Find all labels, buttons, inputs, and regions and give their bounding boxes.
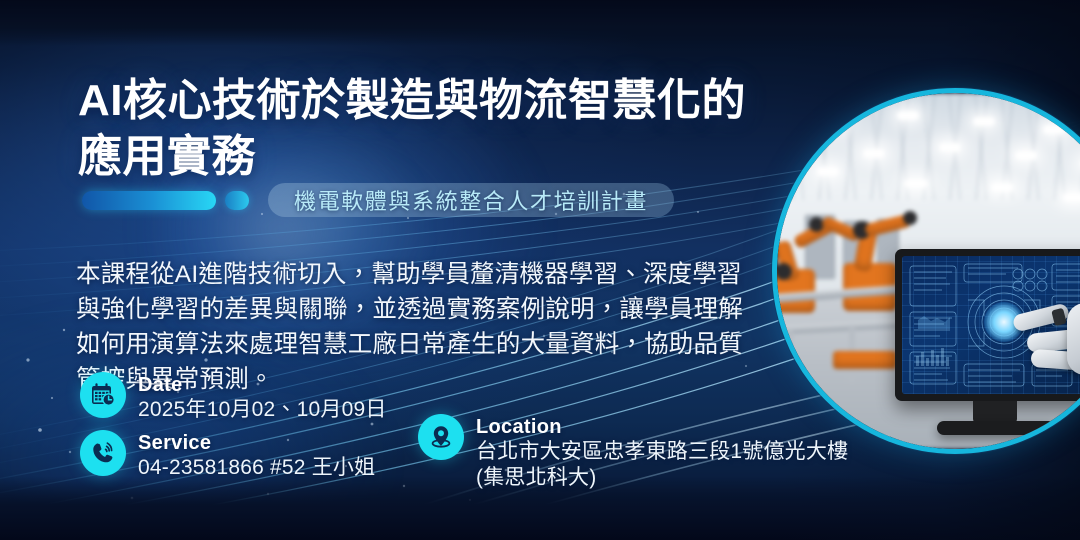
info-block-location: Location 台北市大安區忠孝東路三段1號億光大樓 (集思北科大) [418, 414, 848, 491]
robotic-hand [1023, 289, 1080, 393]
info-value-service: 04-23581866 #52 王小姐 [138, 455, 375, 481]
location-pin-icon [418, 414, 464, 460]
accent-bar-decoration [82, 191, 216, 210]
info-value-location: 台北市大安區忠孝東路三段1號億光大樓 [476, 439, 848, 465]
info-block-date: Date 2025年10月02、10月09日 [80, 372, 387, 423]
info-block-service: Service 04-23581866 #52 王小姐 [80, 430, 375, 481]
info-label-service: Service [138, 431, 375, 455]
accent-dot-decoration [225, 191, 249, 210]
info-value-date: 2025年10月02、10月09日 [138, 397, 387, 423]
subtitle-row: 機電軟體與系統整合人才培訓計畫 [82, 183, 674, 217]
info-label-location: Location [476, 415, 848, 439]
program-badge: 機電軟體與系統整合人才培訓計畫 [268, 183, 674, 217]
page-title: AI核心技術於製造與物流智慧化的應用實務 [78, 73, 778, 185]
phone-ring-icon [80, 430, 126, 476]
info-label-date: Date [138, 373, 387, 397]
calendar-clock-icon [80, 372, 126, 418]
poster-canvas: AI核心技術於製造與物流智慧化的應用實務 機電軟體與系統整合人才培訓計畫 本課程… [0, 0, 1080, 540]
info-value-location-venue: (集思北科大) [476, 465, 848, 491]
factory-robot-touchscreen-photo [772, 88, 1080, 454]
